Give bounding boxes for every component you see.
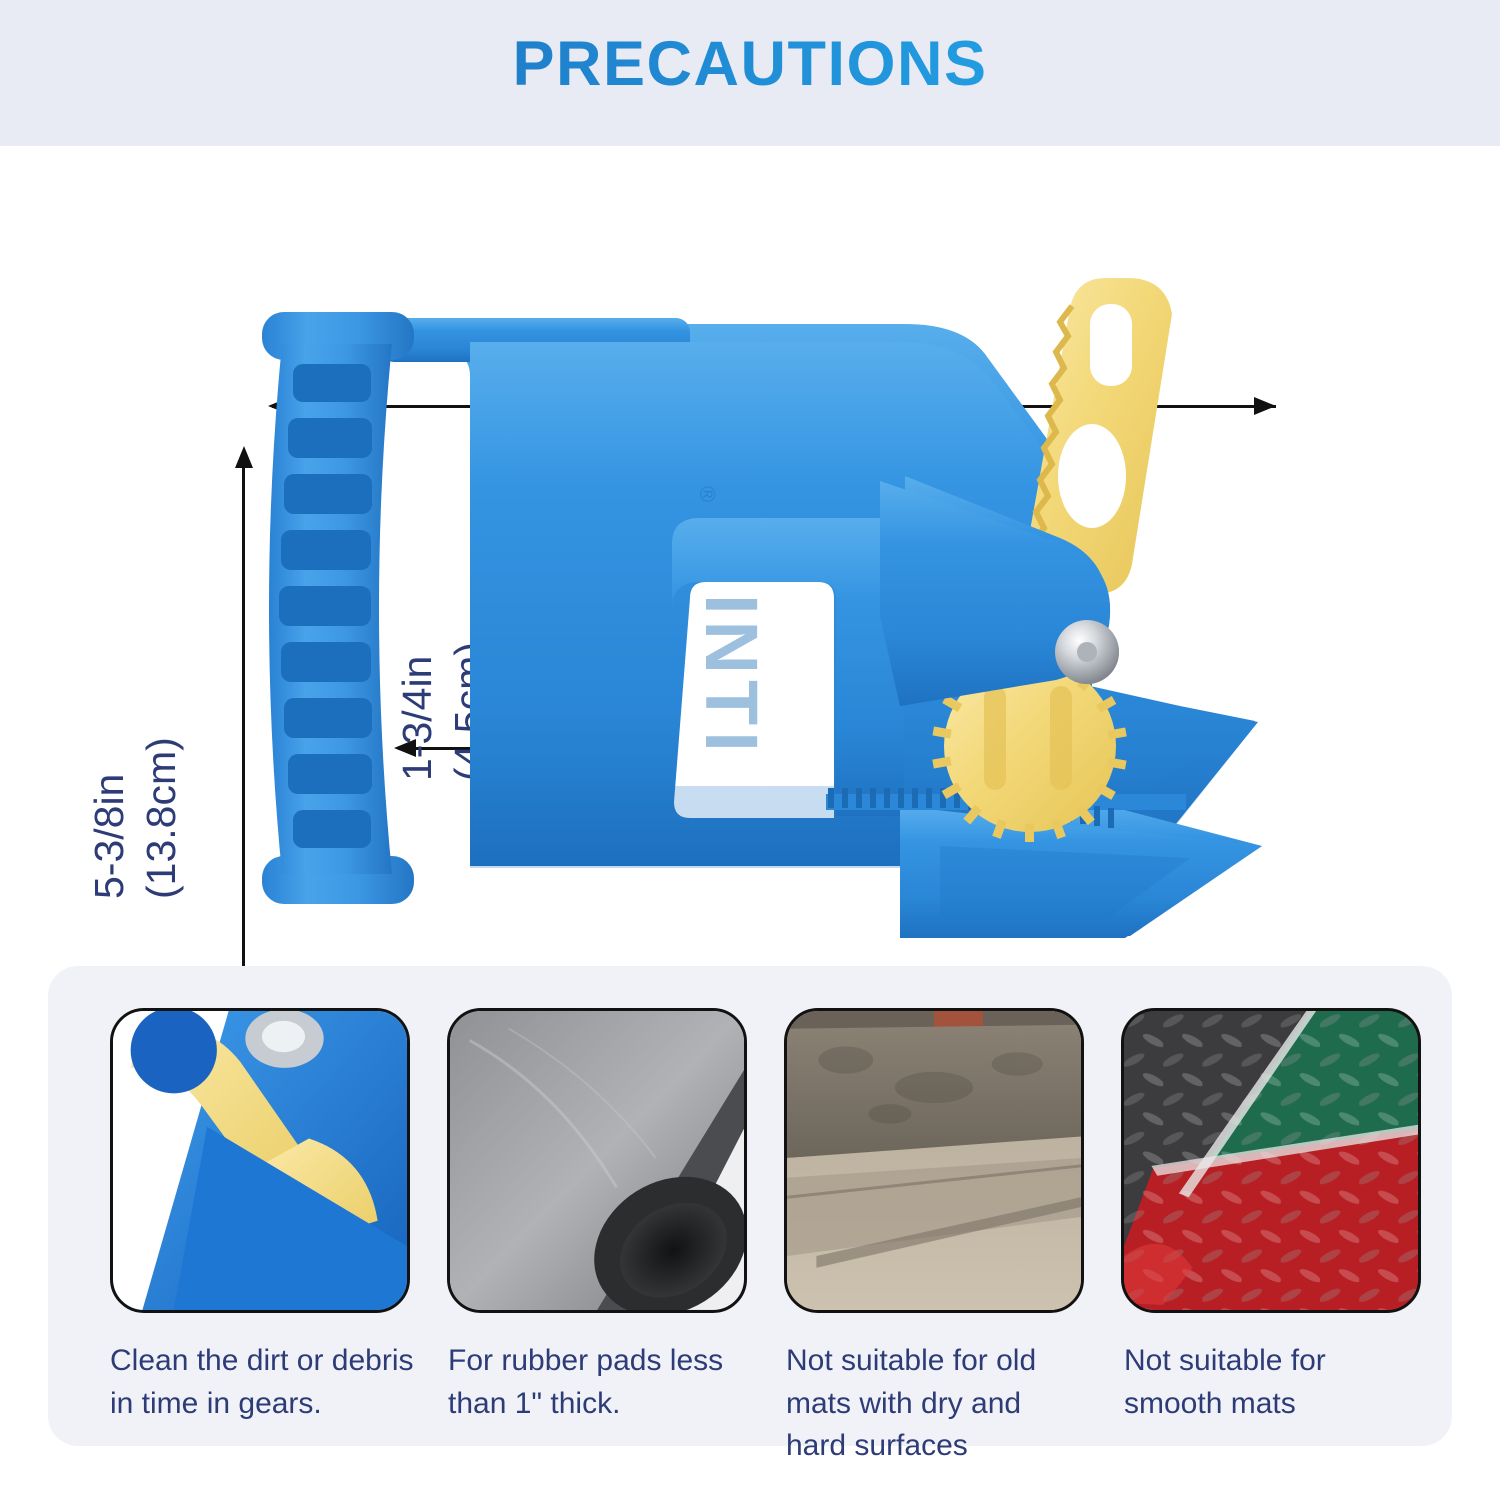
handle-grip-slots [279,364,372,848]
precaution-caption-3-line2: mats with dry and [786,1387,1021,1420]
page-title: PRECAUTIONS [0,28,1500,100]
precaution-caption-1: Clean the dirt or debris in time in gear… [110,1340,430,1468]
precaution-image-4 [1121,1008,1421,1313]
precaution-thumbnails [110,1008,1440,1318]
lever-slot-upper [1090,304,1132,386]
precaution-image-1 [110,1008,410,1313]
precaution-caption-1-line2: in time in gears. [110,1387,322,1420]
precaution-caption-4: Not suitable for smooth mats [1124,1340,1444,1468]
svg-text:®: ® [695,486,720,502]
precaution-caption-3-line3: hard surfaces [786,1429,968,1462]
precaution-caption-4-line1: Not suitable for [1124,1344,1326,1377]
pivot-rivet-center-overlay-icon [1077,642,1097,662]
precaution-item-3 [784,1008,1103,1318]
precaution-caption-1-line1: Clean the dirt or debris [110,1344,414,1377]
precaution-caption-4-line2: smooth mats [1124,1387,1296,1420]
precaution-caption-3-line1: Not suitable for old [786,1344,1036,1377]
precaution-caption-2-line1: For rubber pads less [448,1344,723,1377]
mat-cutter-tool-illustration: INTI ® [0,146,1500,966]
precaution-image-3 [784,1008,1084,1313]
precaution-caption-2: For rubber pads less than 1" thick. [448,1340,768,1468]
svg-text:INTI: INTI [690,594,773,758]
precaution-captions: Clean the dirt or debris in time in gear… [110,1340,1450,1468]
product-diagram: 9-1/2in(24cm) 5-3/8in (13.8cm) 1-3/4in (… [0,146,1500,966]
precaution-caption-2-line2: than 1" thick. [448,1387,620,1420]
precaution-image-2 [447,1008,747,1313]
precaution-item-2 [447,1008,766,1318]
precaution-item-1 [110,1008,429,1318]
precaution-item-4 [1121,1008,1440,1318]
precaution-caption-3: Not suitable for old mats with dry and h… [786,1340,1106,1468]
lever-slot-lower [1058,424,1126,528]
